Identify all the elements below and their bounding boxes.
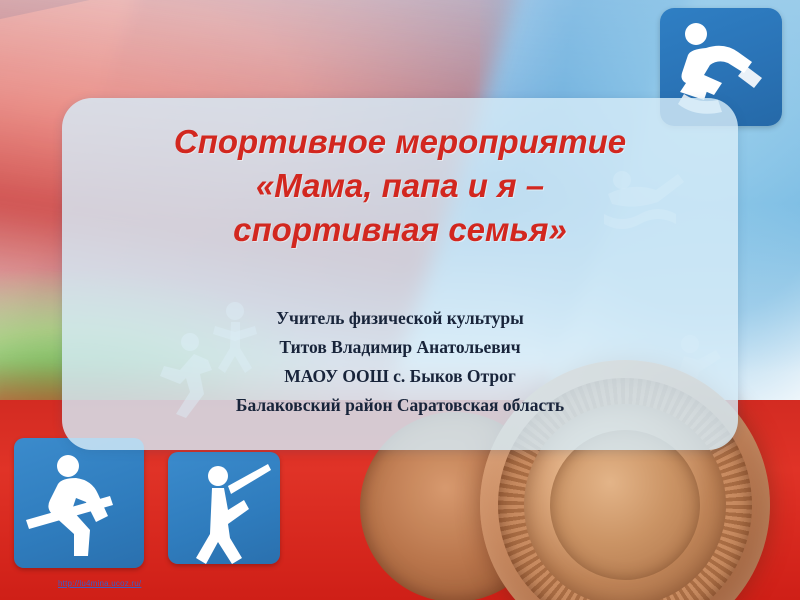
footer-source-link[interactable]: http://lu4mina.ucoz.ru/ [58, 579, 141, 588]
subtitle-line-4: Балаковский район Саратовская область [62, 391, 738, 420]
title-line-2: «Мама, папа и я – [62, 164, 738, 208]
subtitle-line-2: Титов Владимир Анатольевич [62, 333, 738, 362]
title-line-1: Спортивное мероприятие [62, 120, 738, 164]
subtitle-line-3: МАОУ ООШ с. Быков Отрог [62, 362, 738, 391]
author-block: Учитель физической культуры Титов Владим… [62, 304, 738, 420]
subtitle-line-1: Учитель физической культуры [62, 304, 738, 333]
page-title: Спортивное мероприятие «Мама, папа и я –… [62, 120, 738, 252]
content-card: Спортивное мероприятие «Мама, папа и я –… [62, 98, 738, 450]
tug-of-war-pictogram-icon [14, 438, 144, 568]
title-line-3: спортивная семья» [62, 208, 738, 252]
fencing-pictogram-icon [168, 452, 280, 564]
presentation-slide: Спортивное мероприятие «Мама, папа и я –… [0, 0, 800, 600]
medal-center [550, 430, 700, 580]
